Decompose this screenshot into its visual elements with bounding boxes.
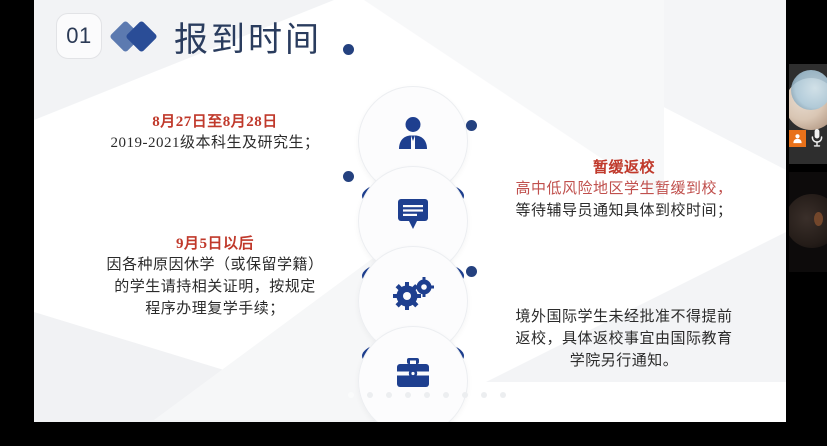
block-heading: 8月27日至8月28日 (70, 112, 360, 132)
text-block-after-sept-5: 9月5日以后 因各种原因休学（或保留学籍） 的学生请持相关证明，按规定 程序办理… (70, 234, 360, 320)
bullet-dot-4 (466, 266, 477, 277)
bottom-black-strip (0, 422, 827, 446)
text-block-registration-dates: 8月27日至8月28日 2019-2021级本科生及研究生； (70, 112, 360, 154)
presentation-slide: 01 报到时间 (34, 0, 786, 422)
block-heading: 暂缓返校 (474, 158, 774, 178)
meeting-screen: 01 报到时间 (0, 0, 827, 446)
background-polygon-top-right (456, 0, 786, 170)
block-line: 因各种原因休学（或保留学籍） (70, 254, 360, 276)
diamond-logo (112, 19, 164, 53)
gears-icon (391, 276, 435, 310)
participant-avatar-1-overlay (791, 70, 827, 110)
block-line: 返校，具体返校事宜由国际教育 (474, 328, 774, 350)
block-line: 学院另行通知。 (474, 350, 774, 372)
pagination-dot[interactable] (386, 392, 392, 398)
block-line: 等待辅导员通知具体到校时间； (474, 200, 774, 222)
pagination-dot[interactable] (500, 392, 506, 398)
microphone-icon[interactable] (810, 128, 824, 148)
icon-circle-4 (358, 326, 468, 422)
video-participant-rail (786, 0, 827, 422)
left-black-gutter (0, 0, 34, 422)
block-line: 境外国际学生未经批准不得提前 (474, 306, 774, 328)
participant-tile-1[interactable] (789, 64, 827, 164)
pagination-dot[interactable] (348, 392, 354, 398)
pagination-dot[interactable] (405, 392, 411, 398)
people-icon (393, 116, 433, 150)
block-line: 的学生请持相关证明，按规定 (70, 276, 360, 298)
pagination-dot[interactable] (462, 392, 468, 398)
icon-column (358, 86, 468, 386)
text-block-international-students: 境外国际学生未经批准不得提前 返校，具体返校事宜由国际教育 学院另行通知。 (474, 306, 774, 372)
briefcase-icon (393, 356, 433, 390)
bullet-dot-3 (466, 120, 477, 131)
participant-avatar-2-highlight (814, 212, 823, 226)
pagination-dots[interactable] (348, 392, 506, 398)
block-line: 2019-2021级本科生及研究生； (70, 132, 360, 154)
bullet-dot-2 (343, 171, 354, 182)
bullet-dot-1 (343, 44, 354, 55)
pagination-dot[interactable] (424, 392, 430, 398)
participant-badge (789, 130, 806, 147)
section-number-badge: 01 (56, 13, 102, 59)
text-block-delayed-return: 暂缓返校 高中低风险地区学生暂缓到校， 等待辅导员通知具体到校时间； (474, 158, 774, 222)
block-heading: 9月5日以后 (70, 234, 360, 254)
chat-bubble-icon (395, 196, 431, 230)
block-line: 高中低风险地区学生暂缓到校， (474, 178, 774, 200)
background-polygon-bottom-left (34, 312, 394, 422)
section-number: 01 (66, 23, 91, 49)
page-title: 报到时间 (174, 12, 322, 61)
participant-tile-2[interactable] (789, 172, 827, 272)
block-line: 程序办理复学手续； (70, 298, 360, 320)
pagination-dot[interactable] (367, 392, 373, 398)
slide-header: 01 报到时间 (56, 8, 322, 64)
pagination-dot[interactable] (481, 392, 487, 398)
pagination-dot[interactable] (443, 392, 449, 398)
